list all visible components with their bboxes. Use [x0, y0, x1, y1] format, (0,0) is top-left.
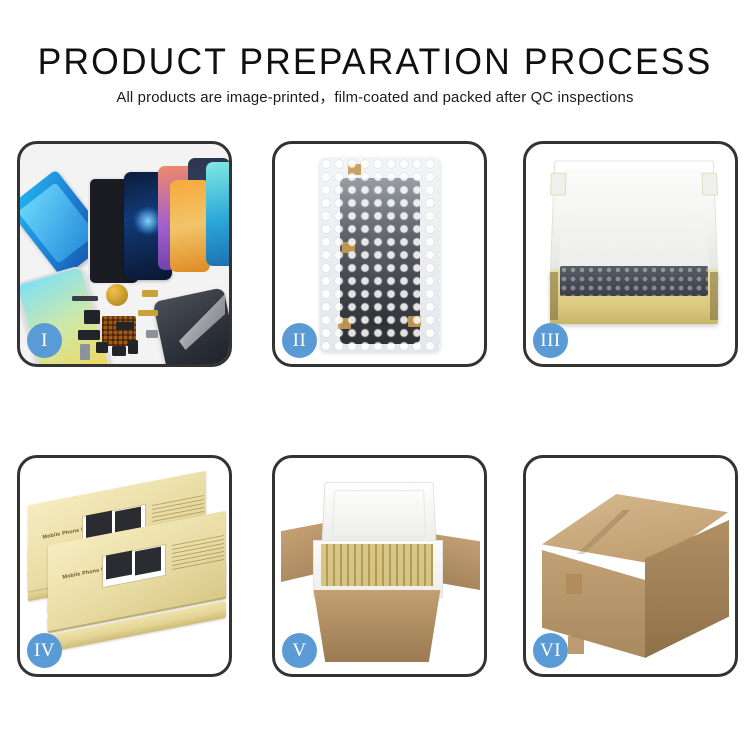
process-step-grid: I II	[0, 0, 750, 750]
bubble-wrap-bag	[320, 158, 440, 352]
foam-lid	[321, 482, 436, 546]
process-step-4: Mobile Phone Spare Parts Mobile Phone Sp…	[17, 455, 232, 677]
component-camera	[112, 346, 126, 356]
bubble-wrapped-contents	[560, 266, 708, 296]
component-bracket	[128, 340, 138, 354]
box-screen-b1	[106, 550, 132, 579]
process-step-6: VI	[523, 455, 738, 677]
process-step-3: III	[523, 141, 738, 367]
phone-back-housing	[153, 287, 229, 364]
component-gold-clip	[142, 290, 158, 297]
process-step-5: V	[272, 455, 487, 677]
box-end-right	[710, 272, 718, 320]
process-step-1: I	[17, 141, 232, 367]
carton-tape-upper	[566, 574, 582, 594]
step-6-badge: VI	[533, 633, 568, 668]
component-button	[96, 342, 108, 353]
component-ribbon	[138, 310, 158, 316]
carton-tape-lower	[568, 636, 584, 654]
step-5-badge: V	[282, 633, 317, 668]
component-strip	[72, 296, 98, 301]
box-screen-b2	[135, 546, 161, 575]
packed-boxes-rows	[321, 544, 433, 586]
wrapped-flex-cable	[370, 222, 390, 326]
box-end-left	[550, 272, 558, 320]
component-screw-plate	[146, 330, 158, 338]
lid-tab-right	[701, 173, 718, 196]
component-connector	[116, 322, 134, 330]
box-lid-open	[549, 160, 718, 281]
tape-lower-left	[338, 318, 351, 329]
component-square	[84, 310, 100, 324]
tape-middle	[342, 242, 355, 253]
carton-front-panel	[305, 590, 449, 662]
speaker-component	[106, 284, 128, 306]
step-3-badge: III	[533, 323, 568, 358]
process-step-2: II	[272, 141, 487, 367]
product-preparation-infographic: PRODUCT PREPARATION PROCESS All products…	[0, 0, 750, 750]
component-sim-tray	[80, 344, 90, 360]
box-stack: Mobile Phone Spare Parts Mobile Phone Sp…	[26, 488, 226, 658]
step-1-badge: I	[27, 323, 62, 358]
phone-display-orange	[170, 180, 210, 272]
lid-tab-left	[550, 173, 567, 196]
component-flex	[78, 330, 100, 340]
step-2-badge: II	[282, 323, 317, 358]
step-4-badge: IV	[27, 633, 62, 668]
tape-top	[348, 164, 361, 175]
tape-lower-right	[408, 316, 421, 327]
phone-display-teal	[206, 162, 229, 266]
